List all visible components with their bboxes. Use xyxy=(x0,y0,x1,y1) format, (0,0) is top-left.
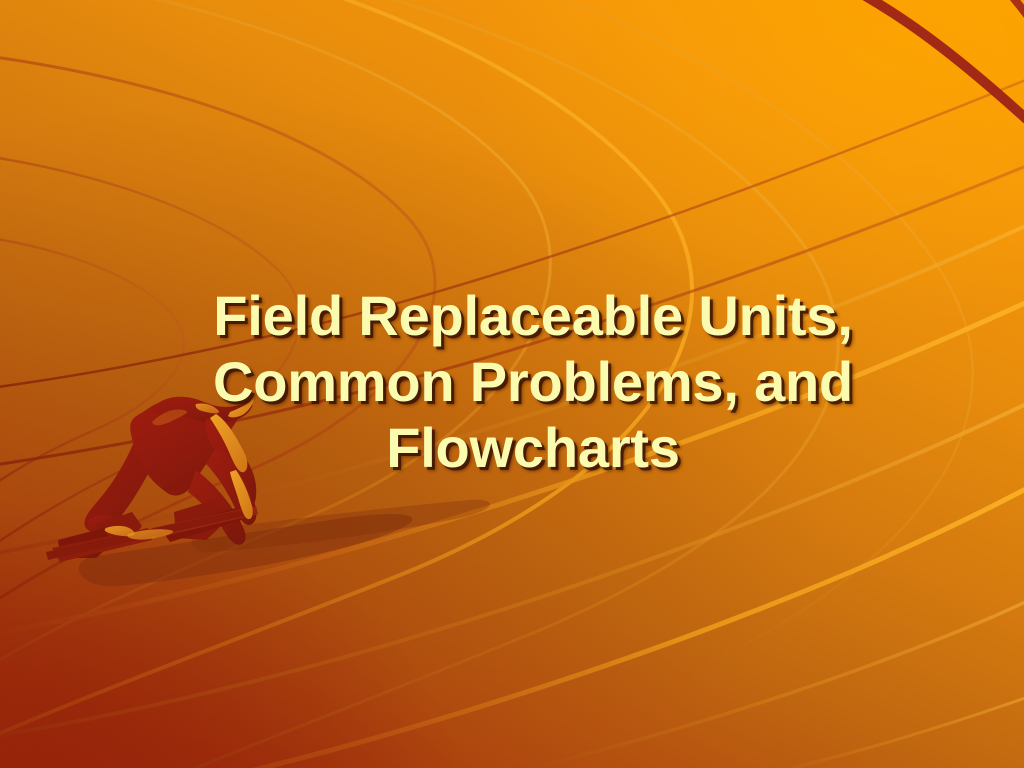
title-line-3: Flowcharts xyxy=(168,415,898,481)
slide-title: Field Replaceable Units, Common Problems… xyxy=(168,283,898,481)
title-line-2: Common Problems, and xyxy=(168,349,898,415)
accent-arc-icon xyxy=(862,0,1024,124)
title-line-1: Field Replaceable Units, xyxy=(168,283,898,349)
slide-canvas: Field Replaceable Units, Common Problems… xyxy=(0,0,1024,768)
